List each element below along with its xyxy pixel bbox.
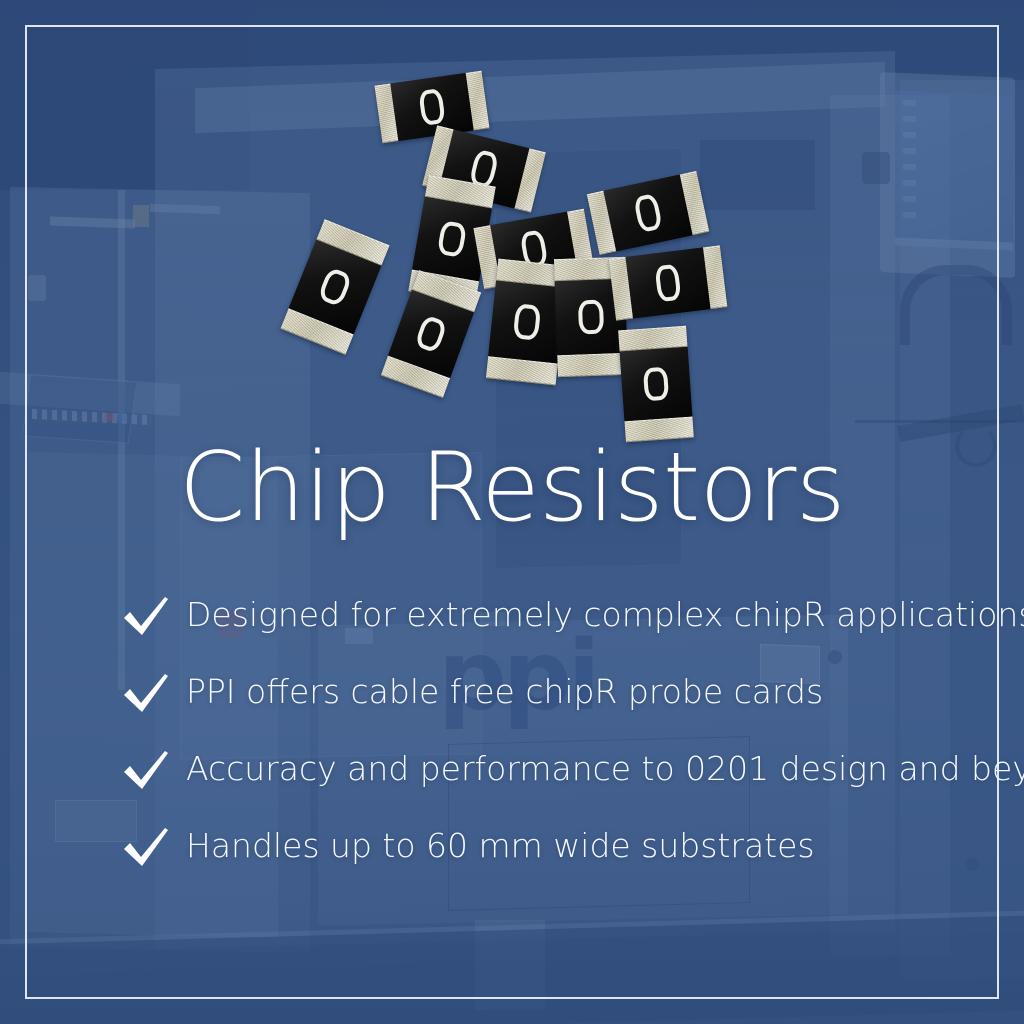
feature-bullet-item: PPI offers cable free chipR probe cards xyxy=(118,655,998,730)
feature-bullet-item: Designed for extremely complex chipR app… xyxy=(118,578,998,653)
feature-bullet-label: PPI offers cable free chipR probe cards xyxy=(186,674,823,710)
feature-bullet-item: Handles up to 60 mm wide substrates xyxy=(118,809,998,884)
feature-bullet-item: Accuracy and performance to 0201 design … xyxy=(118,732,998,807)
checkmark-icon xyxy=(118,745,174,795)
feature-bullet-label: Accuracy and performance to 0201 design … xyxy=(186,751,1024,787)
feature-bullet-label: Designed for extremely complex chipR app… xyxy=(186,597,1024,633)
poster-content: Chip Resistors Designed for extremely co… xyxy=(0,0,1024,1024)
page-title: Chip Resistors xyxy=(0,440,1024,537)
feature-bullet-label: Handles up to 60 mm wide substrates xyxy=(186,828,815,864)
checkmark-icon xyxy=(118,591,174,641)
checkmark-icon xyxy=(118,668,174,718)
feature-bullet-list: Designed for extremely complex chipR app… xyxy=(118,578,998,886)
checkmark-icon xyxy=(118,822,174,872)
poster-canvas: ppi Chip Resistors Designed for extremel… xyxy=(0,0,1024,1024)
